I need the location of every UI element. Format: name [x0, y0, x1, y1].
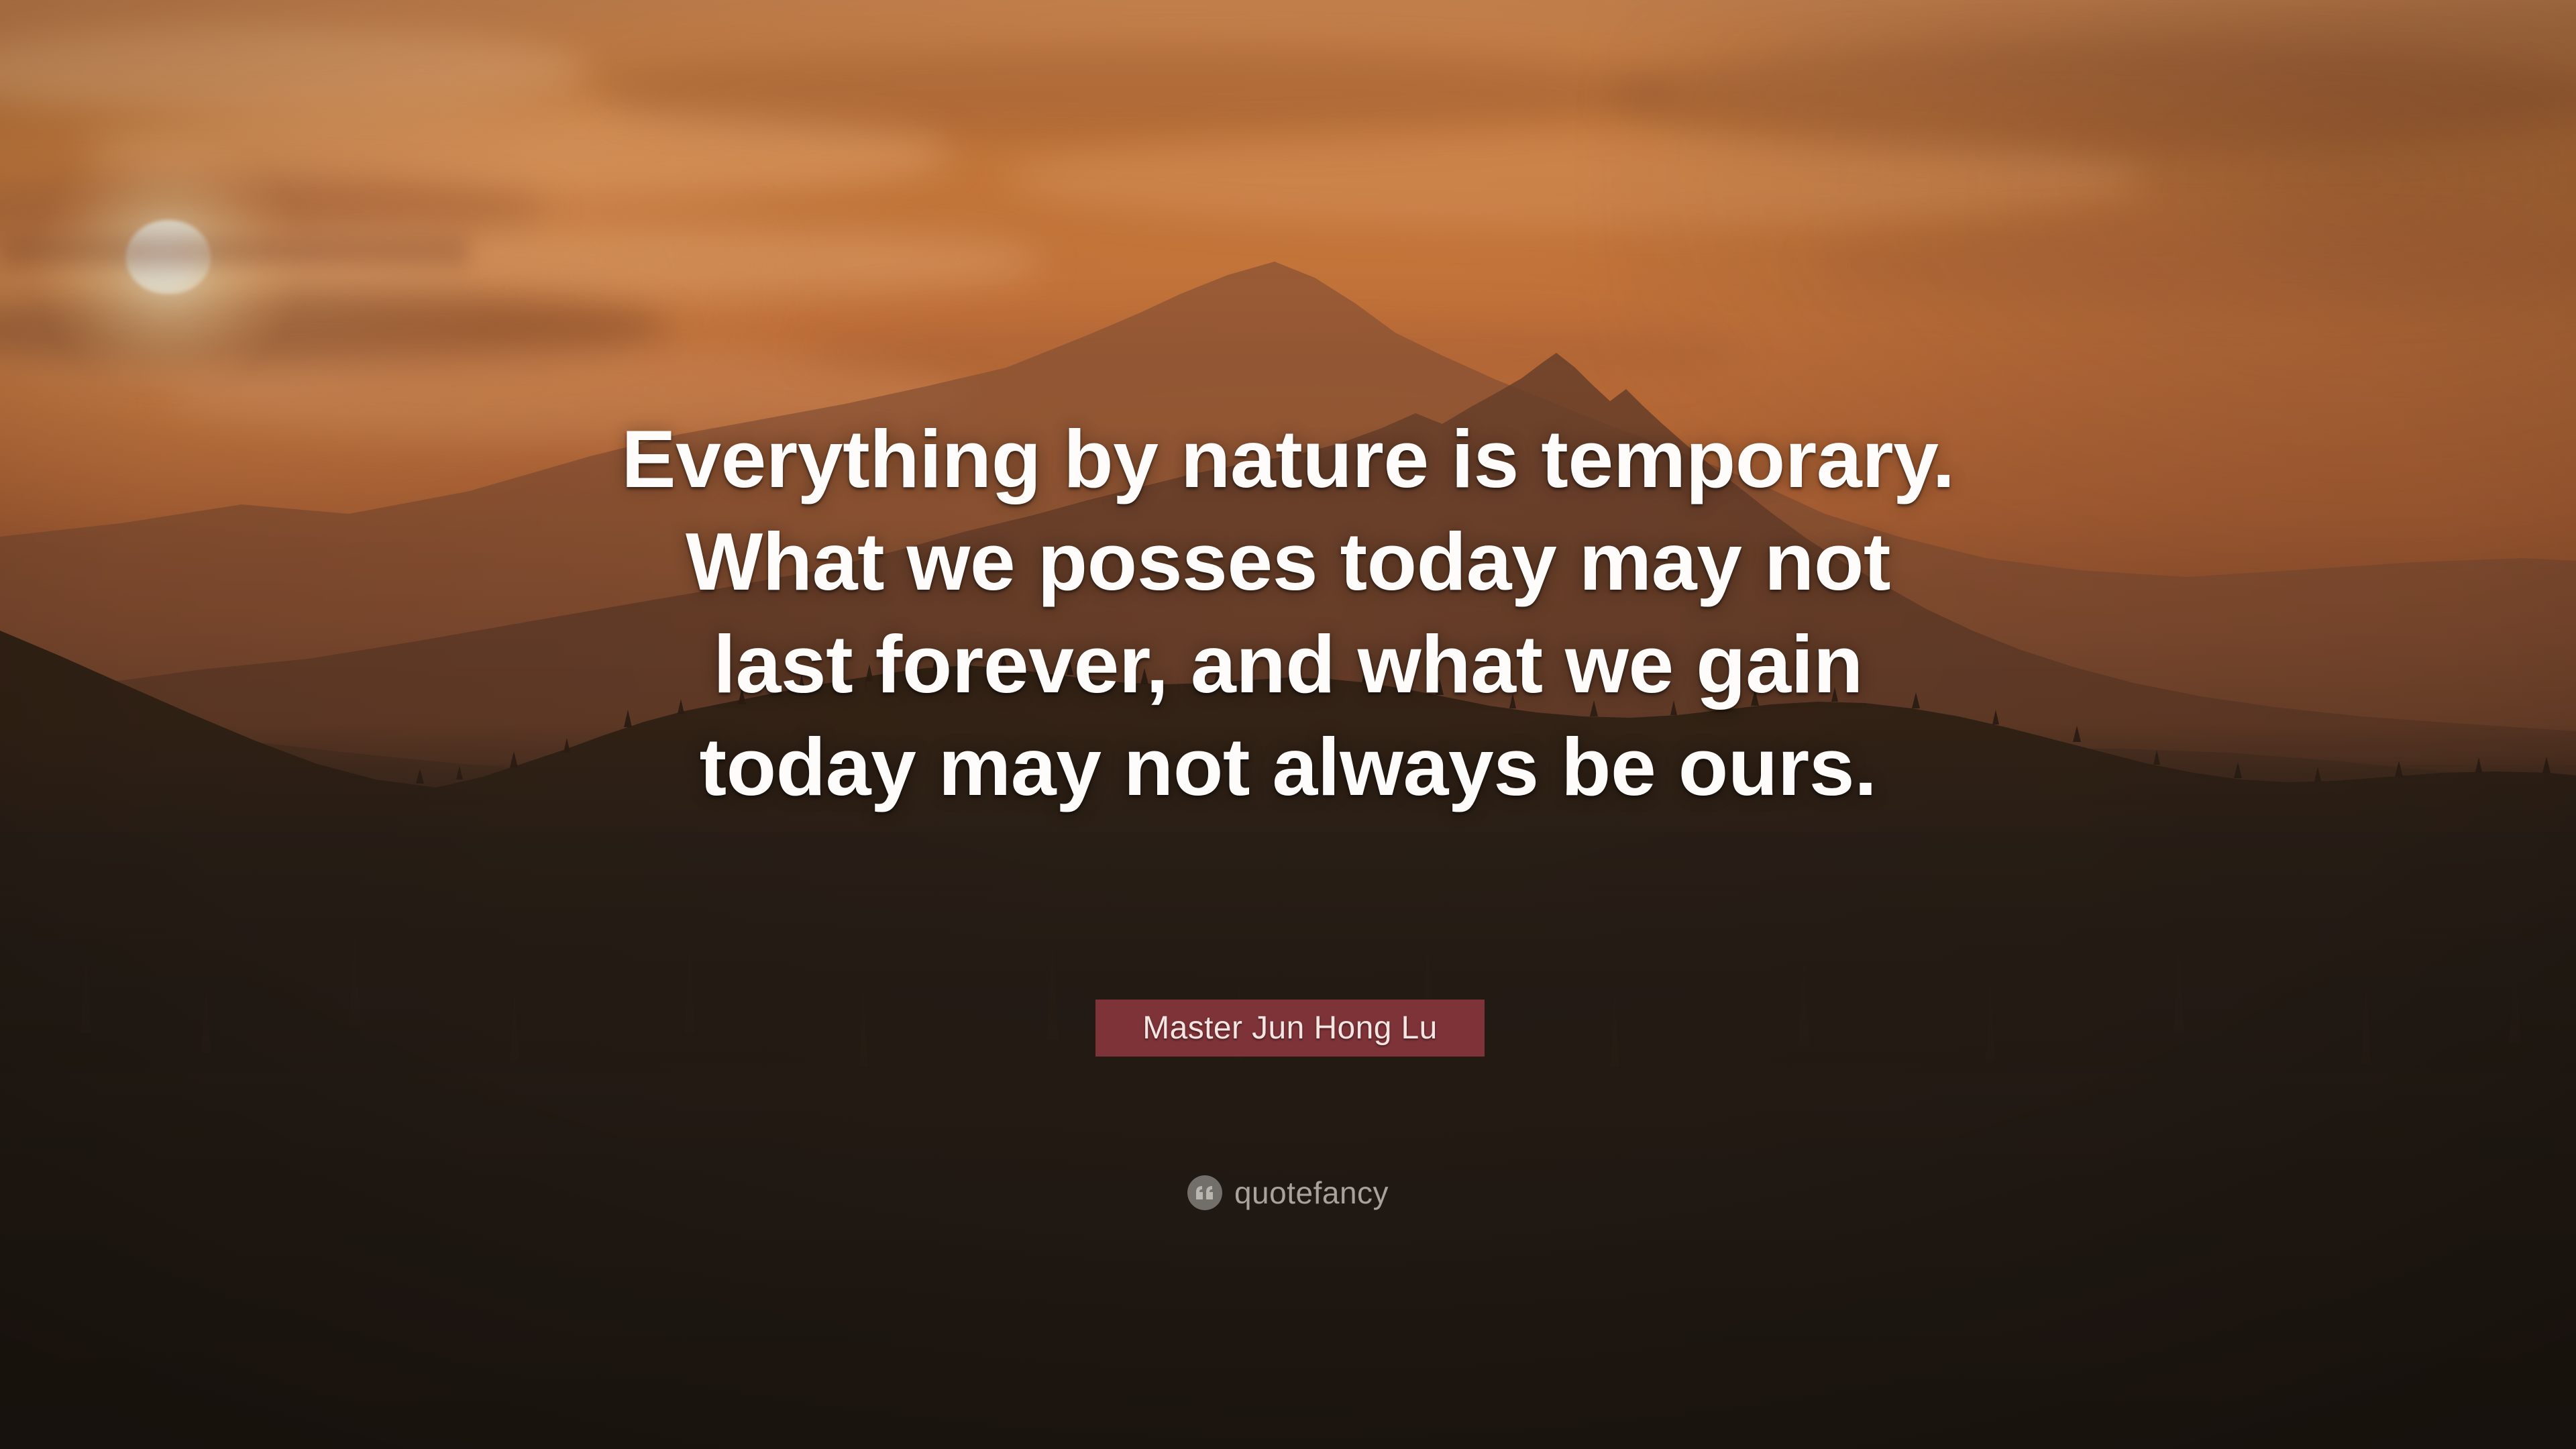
quotefancy-watermark[interactable]: quotefancy [0, 1175, 2576, 1210]
quote-line-2: What we posses today may not [449, 511, 2127, 613]
quotefancy-brand: quotefancy [1234, 1177, 1389, 1208]
quote-line-4: today may not always be ours. [449, 716, 2127, 818]
wallpaper-canvas: Everything by nature is temporary. What … [0, 0, 2576, 1449]
quote-line-3: last forever, and what we gain [449, 613, 2127, 716]
author-badge[interactable]: Master Jun Hong Lu [1095, 1000, 1485, 1057]
author-name: Master Jun Hong Lu [1142, 1010, 1437, 1046]
quote-text: Everything by nature is temporary. What … [449, 408, 2127, 818]
quote-mark-icon [1187, 1175, 1222, 1210]
quote-line-1: Everything by nature is temporary. [449, 408, 2127, 511]
